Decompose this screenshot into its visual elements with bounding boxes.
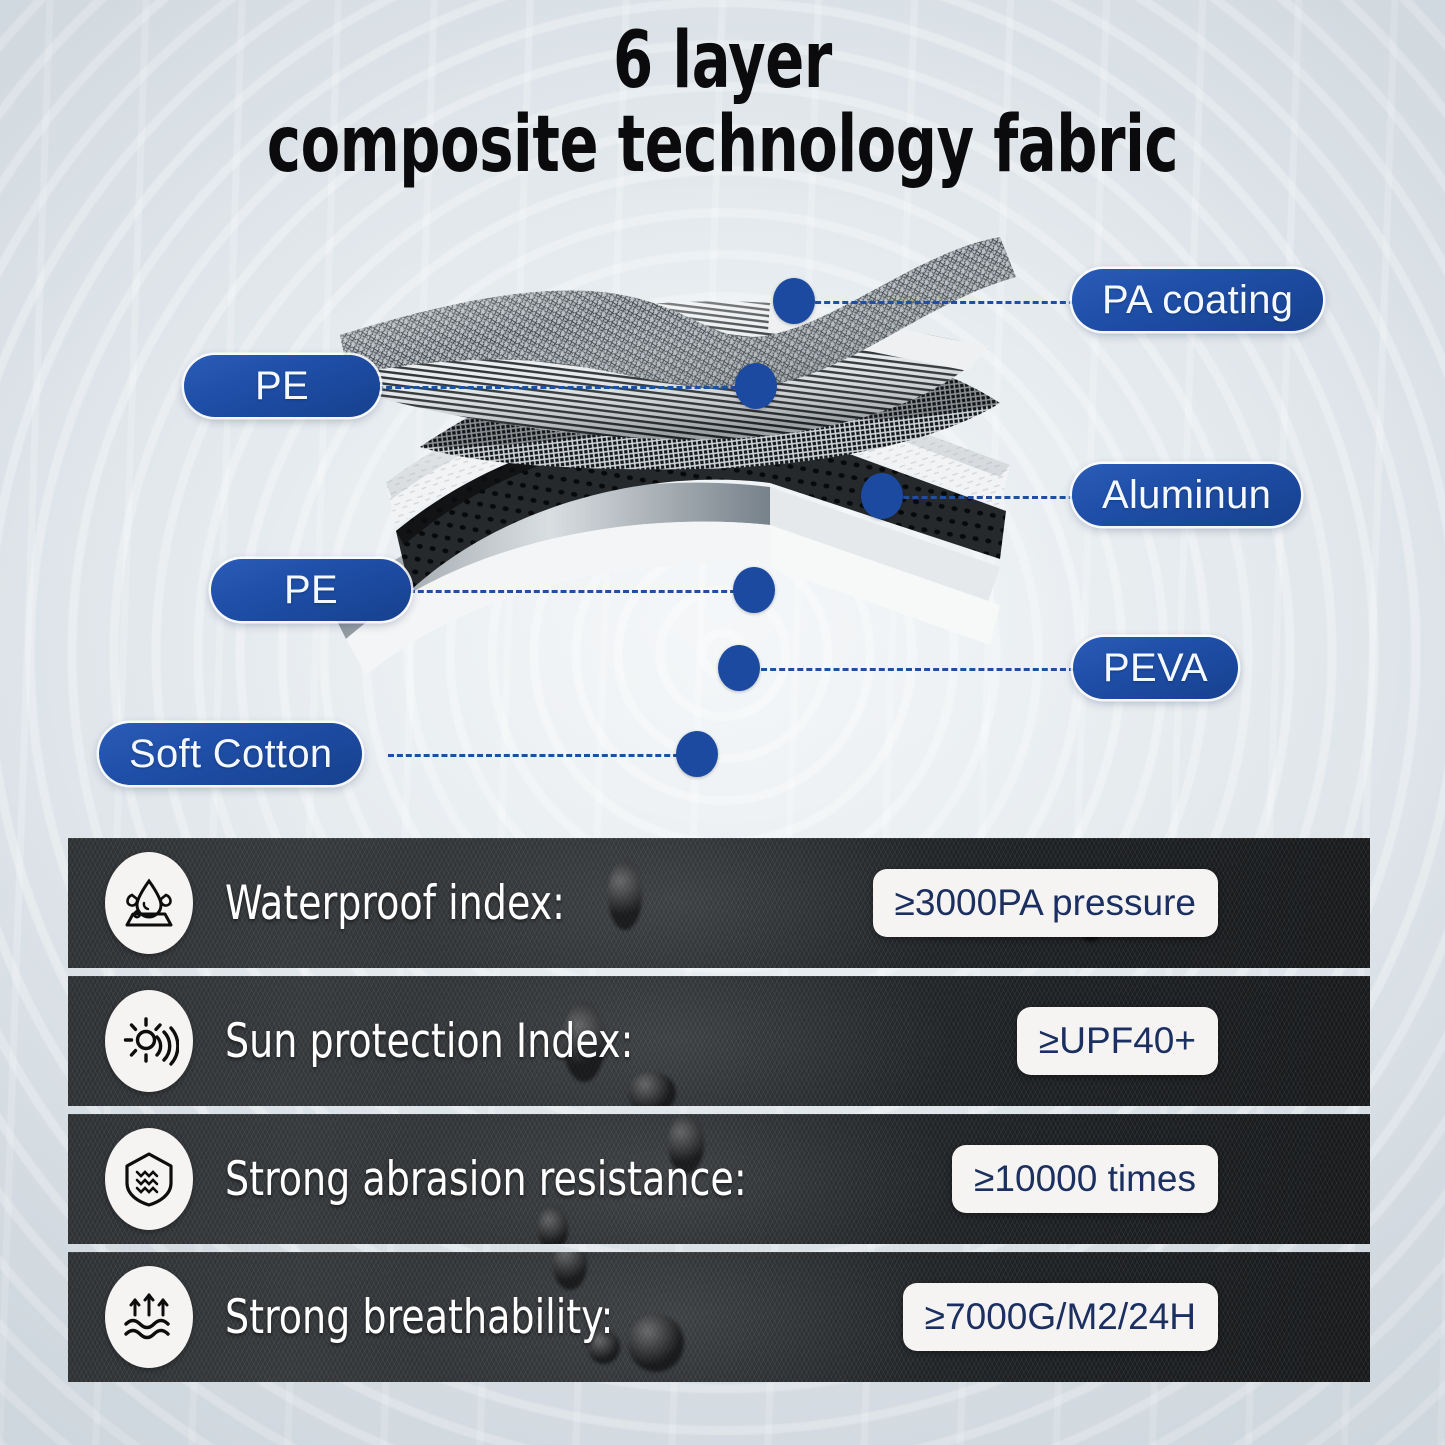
feature-value-sun-protection: ≥UPF40+ bbox=[1017, 1007, 1218, 1075]
callout-pe-bottom[interactable]: PE bbox=[211, 559, 411, 621]
callout-dot-pe-top bbox=[735, 363, 777, 409]
breathability-arrows-icon bbox=[105, 1266, 193, 1368]
callout-label: PA coating bbox=[1102, 278, 1293, 323]
feature-row-sun-protection: Sun protection Index: ≥UPF40+ bbox=[68, 976, 1370, 1106]
callout-dot-pe-bottom bbox=[733, 567, 775, 613]
feature-row-abrasion: Strong abrasion resistance: ≥10000 times bbox=[68, 1114, 1370, 1244]
callout-soft-cotton[interactable]: Soft Cotton bbox=[99, 723, 362, 785]
callout-line-aluminun bbox=[894, 496, 1084, 499]
feature-label: Waterproof index: bbox=[225, 876, 565, 931]
callout-label: PEVA bbox=[1103, 646, 1208, 691]
feature-list: Waterproof index: ≥3000PA pressure bbox=[68, 838, 1370, 1382]
callout-label: Aluminun bbox=[1102, 473, 1271, 518]
callout-line-pa-coating bbox=[806, 301, 1084, 304]
callout-line-pe-top bbox=[368, 386, 746, 389]
water-bead bbox=[538, 1206, 568, 1244]
callout-dot-peva bbox=[718, 645, 760, 691]
callout-dot-soft-cotton bbox=[676, 731, 718, 777]
feature-label: Strong abrasion resistance: bbox=[225, 1152, 747, 1207]
callout-line-soft-cotton bbox=[388, 754, 688, 757]
callout-aluminun[interactable]: Aluminun bbox=[1072, 464, 1301, 526]
waterproof-droplet-icon bbox=[105, 852, 193, 954]
title-line-1: 6 layer bbox=[130, 24, 1315, 100]
feature-value-waterproof: ≥3000PA pressure bbox=[873, 869, 1218, 937]
water-bead bbox=[608, 860, 642, 930]
callout-pe-top[interactable]: PE bbox=[184, 355, 380, 417]
feature-label: Strong breathability: bbox=[225, 1290, 613, 1345]
sun-protection-icon bbox=[105, 990, 193, 1092]
abrasion-shield-icon bbox=[105, 1128, 193, 1230]
water-bead bbox=[628, 1072, 676, 1106]
callout-label: Soft Cotton bbox=[129, 732, 332, 777]
callout-dot-aluminun bbox=[861, 473, 903, 519]
feature-value-abrasion: ≥10000 times bbox=[952, 1145, 1218, 1213]
callout-label: PE bbox=[284, 568, 338, 613]
callout-line-peva bbox=[752, 668, 1075, 671]
water-bead bbox=[628, 1314, 684, 1372]
page-title: 6 layer composite technology fabric bbox=[130, 24, 1315, 183]
feature-label: Sun protection Index: bbox=[225, 1014, 633, 1069]
callout-peva[interactable]: PEVA bbox=[1073, 637, 1238, 699]
feature-value-breathability: ≥7000G/M2/24H bbox=[903, 1283, 1218, 1351]
callout-line-pe-bottom bbox=[400, 590, 745, 593]
callout-dot-pa-coating bbox=[773, 278, 815, 324]
title-line-2: composite technology fabric bbox=[130, 108, 1315, 184]
callout-pa-coating[interactable]: PA coating bbox=[1072, 269, 1323, 331]
feature-row-breathability: Strong breathability: ≥7000G/M2/24H bbox=[68, 1252, 1370, 1382]
water-bead bbox=[553, 1252, 587, 1290]
callout-label: PE bbox=[255, 364, 309, 409]
feature-row-waterproof: Waterproof index: ≥3000PA pressure bbox=[68, 838, 1370, 968]
infographic-stage: 6 layer composite technology fabric bbox=[0, 0, 1445, 1445]
fabric-layer-illustration bbox=[300, 215, 1040, 835]
